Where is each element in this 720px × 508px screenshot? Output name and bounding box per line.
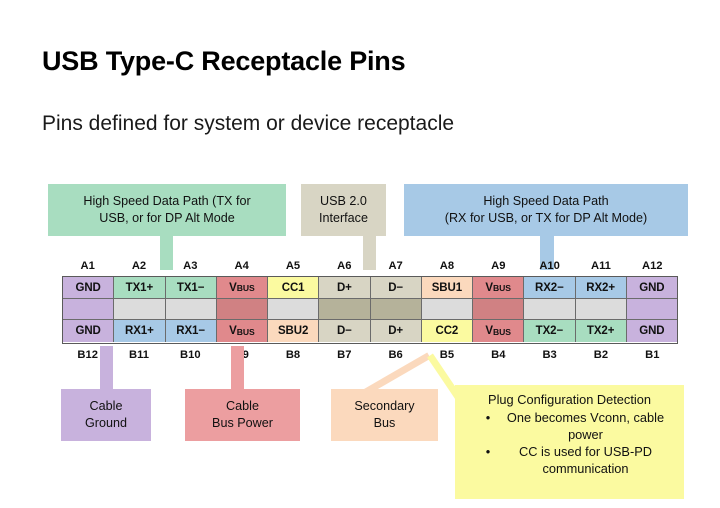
pin-separator-segment-1	[114, 299, 165, 320]
pin-cell-a-vbus-3: VBUS	[217, 277, 268, 299]
callout-usb20-line1: USB 2.0	[319, 193, 368, 210]
pin-cell-a-gnd-0: GND	[63, 277, 114, 299]
page-subtitle: Pins defined for system or device recept…	[42, 112, 454, 136]
pin-separator-segment-3	[217, 299, 268, 320]
pin-label-b8: B8	[267, 347, 318, 363]
pin-label-b3: B3	[524, 347, 575, 363]
pin-cell-a-d-6: D−	[371, 277, 422, 299]
pin-cell-a-gnd-11: GND	[627, 277, 677, 299]
pin-label-a9: A9	[473, 258, 524, 274]
pin-label-row-b: B12 B11 B10 B9 B8 B7 B6 B5 B4 B3 B2 B1	[62, 347, 678, 363]
callout-cable-ground-line2: Ground	[85, 415, 127, 432]
pin-label-b10: B10	[165, 347, 216, 363]
pin-separator-segment-9	[524, 299, 575, 320]
pin-label-b4: B4	[473, 347, 524, 363]
plug-config-heading: Plug Configuration Detection	[463, 391, 676, 408]
pin-label-b7: B7	[319, 347, 370, 363]
pin-cell-a-rx2-9: RX2−	[524, 277, 575, 299]
pin-label-a8: A8	[421, 258, 472, 274]
callout-high-speed-rx: High Speed Data Path (RX for USB, or TX …	[404, 184, 688, 236]
pin-row-separator	[63, 299, 677, 320]
pin-separator-segment-11	[627, 299, 677, 320]
plug-config-bullet-1: • One becomes Vconn, cable power	[463, 409, 676, 443]
page-title: USB Type-C Receptacle Pins	[42, 46, 405, 77]
pin-label-a11: A11	[575, 258, 626, 274]
pin-label-a3: A3	[165, 258, 216, 274]
pin-label-a4: A4	[216, 258, 267, 274]
pin-separator-segment-6	[371, 299, 422, 320]
pin-cell-a-tx1+-1: TX1+	[114, 277, 165, 299]
pin-label-row-a: A1 A2 A3 A4 A5 A6 A7 A8 A9 A10 A11 A12	[62, 258, 678, 274]
pin-label-a5: A5	[267, 258, 318, 274]
bullet-dot-icon: •	[481, 443, 495, 460]
callout-secondary-bus: Secondary Bus	[331, 389, 438, 441]
callout-usb20-interface: USB 2.0 Interface	[301, 184, 386, 236]
pin-grid: GNDTX1+TX1−VBUSCC1D+D−SBU1VBUSRX2−RX2+GN…	[62, 276, 678, 344]
pin-cell-a-cc1-4: CC1	[268, 277, 319, 299]
pin-label-a10: A10	[524, 258, 575, 274]
pin-label-a6: A6	[319, 258, 370, 274]
pin-cell-b-rx1+-1: RX1+	[114, 320, 165, 342]
callout-high-speed-tx: High Speed Data Path (TX for USB, or for…	[48, 184, 286, 236]
pin-label-b1: B1	[627, 347, 678, 363]
callout-high-speed-tx-line2: USB, or for DP Alt Mode	[83, 210, 250, 227]
pin-cell-b-cc2-7: CC2	[422, 320, 473, 342]
pin-cell-b-vbus-3: VBUS	[217, 320, 268, 342]
pin-label-b2: B2	[575, 347, 626, 363]
plug-config-bullet-2: • CC is used for USB-PD communication	[463, 443, 676, 477]
pin-cell-a-sbu1-7: SBU1	[422, 277, 473, 299]
pin-cell-b-rx1-2: RX1−	[166, 320, 217, 342]
callout-stem-cable-bus-power	[231, 346, 244, 389]
callout-high-speed-rx-line1: High Speed Data Path	[445, 193, 648, 210]
plug-config-bullet-2-text: CC is used for USB-PD communication	[495, 443, 676, 477]
pin-cell-a-tx1-2: TX1−	[166, 277, 217, 299]
slide-canvas: USB Type-C Receptacle Pins Pins defined …	[0, 0, 720, 508]
pin-row-b: GNDRX1+RX1−VBUSSBU2D−D+CC2VBUSTX2−TX2+GN…	[63, 320, 677, 342]
pin-label-b11: B11	[113, 347, 164, 363]
pin-separator-segment-2	[166, 299, 217, 320]
callout-cable-bus-power: Cable Bus Power	[185, 389, 300, 441]
pin-cell-a-rx2+-10: RX2+	[576, 277, 627, 299]
callout-cable-ground-line1: Cable	[90, 398, 123, 415]
callout-cable-bus-power-line2: Bus Power	[212, 415, 273, 432]
pin-cell-b-gnd-11: GND	[627, 320, 677, 342]
pin-separator-segment-4	[268, 299, 319, 320]
callout-high-speed-tx-line1: High Speed Data Path (TX for	[83, 193, 250, 210]
pin-label-a7: A7	[370, 258, 421, 274]
pin-cell-a-d+-5: D+	[319, 277, 370, 299]
pin-label-a2: A2	[113, 258, 164, 274]
pin-label-a12: A12	[627, 258, 678, 274]
pin-separator-segment-5	[319, 299, 370, 320]
pin-label-a1: A1	[62, 258, 113, 274]
pin-separator-segment-8	[473, 299, 524, 320]
callout-secondary-bus-line2: Bus	[374, 415, 396, 432]
pin-row-a: GNDTX1+TX1−VBUSCC1D+D−SBU1VBUSRX2−RX2+GN…	[63, 277, 677, 299]
pin-cell-b-d-5: D−	[319, 320, 370, 342]
pin-cell-b-gnd-0: GND	[63, 320, 114, 342]
callout-stem-cable-ground	[100, 346, 113, 389]
pin-separator-segment-10	[576, 299, 627, 320]
bullet-dot-icon: •	[481, 409, 495, 426]
callout-secondary-bus-line1: Secondary	[354, 398, 414, 415]
callout-cable-ground: Cable Ground	[61, 389, 151, 441]
pin-cell-b-tx2+-10: TX2+	[576, 320, 627, 342]
callout-plug-config-detection: Plug Configuration Detection • One becom…	[455, 385, 684, 499]
pin-separator-segment-7	[422, 299, 473, 320]
pin-cell-a-vbus-8: VBUS	[473, 277, 524, 299]
pin-cell-b-vbus-8: VBUS	[473, 320, 524, 342]
pin-cell-b-d+-6: D+	[371, 320, 422, 342]
pin-cell-b-sbu2-4: SBU2	[268, 320, 319, 342]
callout-usb20-line2: Interface	[319, 210, 368, 227]
callout-high-speed-rx-line2: (RX for USB, or TX for DP Alt Mode)	[445, 210, 648, 227]
callout-cable-bus-power-line1: Cable	[226, 398, 259, 415]
plug-config-bullet-1-text: One becomes Vconn, cable power	[495, 409, 676, 443]
pin-separator-segment-0	[63, 299, 114, 320]
pin-cell-b-tx2-9: TX2−	[524, 320, 575, 342]
